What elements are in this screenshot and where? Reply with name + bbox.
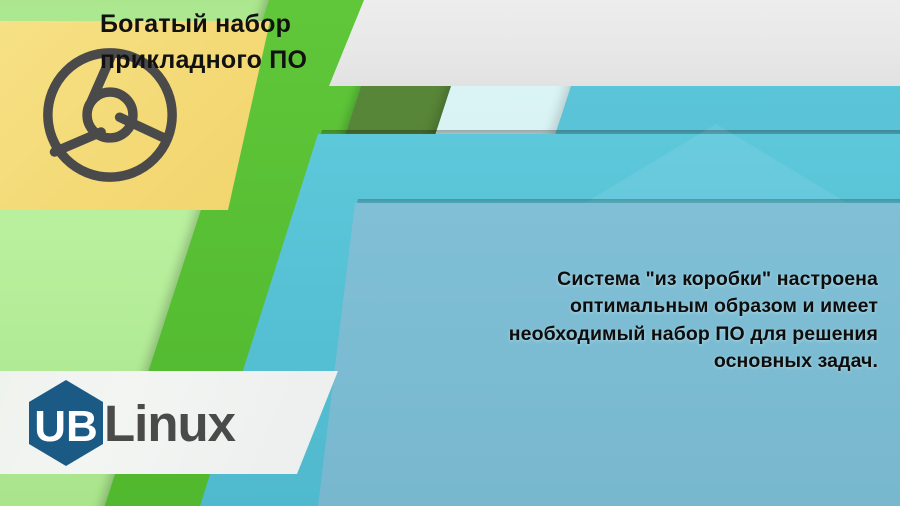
presentation-slide: UB Богатый набор прикладного ПО Система … bbox=[0, 0, 900, 506]
ub-hexagon-icon: UB bbox=[26, 379, 106, 467]
body-paragraph: Система "из коробки" настроена оптимальн… bbox=[430, 266, 878, 376]
logo-wordmark: Linux bbox=[104, 398, 235, 449]
logo-mark-text: UB bbox=[34, 402, 98, 451]
brand-logo: UB Linux bbox=[26, 379, 235, 467]
page-title: Богатый набор прикладного ПО bbox=[100, 6, 580, 78]
